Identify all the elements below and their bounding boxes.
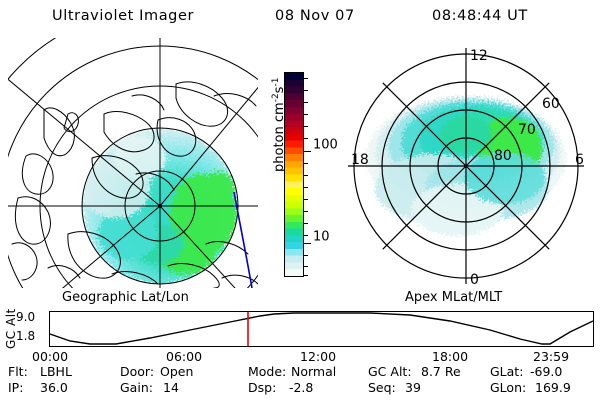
colorbar-minor-tick-14 [304,266,308,267]
colorbar-minor-tick-12 [304,235,308,236]
uvi-screenshot: Ultraviolet Imager 08 Nov 07 08:48:44 UT [0,0,600,400]
mlat-label-70: 70 [518,122,536,138]
observation-date: 08 Nov 07 [275,8,355,24]
right-panel-caption: Apex MLat/MLT [405,290,502,305]
colorbar-major-tick-1 [304,243,311,244]
mlat-label-80: 80 [494,148,512,164]
colorbar-minor-tick-3 [304,114,308,115]
mlt-label-6: 6 [575,152,584,168]
status-glat-value: -69.0 [530,364,562,379]
dial-center [464,164,468,168]
status-dsp-label: Dsp: [248,380,276,395]
colorbar-minor-tick-15 [304,275,308,276]
status-flt-value: LBHL [40,364,72,379]
orbit-xtick-4: 23:59 [533,349,569,364]
geographic-plot-svg [8,38,258,288]
orbit-plot-area [49,311,594,347]
colorbar-minor-tick-4 [304,126,308,127]
header-bar: Ultraviolet Imager 08 Nov 07 08:48:44 UT [0,6,600,30]
orbit-xtick-2: 12:00 [300,349,336,364]
status-ip-value: 36.0 [40,380,68,395]
status-gcalt-value: 8.7 Re [421,364,461,379]
orbit-xtick-0: 00:00 [32,349,68,364]
colorbar-minor-tick-10 [304,211,308,212]
left-panel-caption: Geographic Lat/Lon [62,290,189,305]
pole-marker [158,204,162,208]
status-gcalt-label: GC Alt: [368,364,412,379]
orbit-altitude-strip: GC Alt 9.0 1.8 00:00 06:00 12:00 18:00 2… [0,305,600,357]
geographic-polar-plot [8,38,258,288]
colorbar-minor-tick-0 [304,78,308,79]
colorbar-gradient [285,73,303,276]
mlt-polar-plot: 12 6 0 18 60 70 80 [337,38,595,290]
orbit-x-axis: 00:00 06:00 12:00 18:00 23:59 [0,349,600,365]
colorbar-minor-tick-5 [304,138,308,139]
colorbar-minor-tick-7 [304,175,308,176]
status-gain-value: 14 [163,380,179,395]
colorbar-major-tick-0 [304,151,311,152]
colorbar-title-exp1: -2 [271,93,281,102]
status-glon-label: GLon: [490,380,526,395]
status-dsp-value: -2.8 [281,380,313,395]
mlat-label-60: 60 [542,96,560,112]
instrument-title: Ultraviolet Imager [52,8,194,24]
status-flt-label: Flt: [8,364,28,379]
orbit-trace-svg [50,312,593,346]
colorbar-minor-tick-2 [304,102,308,103]
colorbar-ticks [304,72,312,277]
status-door-label: Door: [120,364,154,379]
colorbar-minor-tick-8 [304,187,308,188]
status-seq-value: 39 [405,380,421,395]
colorbar-minor-tick-9 [304,199,308,200]
colorbar-minor-tick-6 [304,163,308,164]
status-gain-label: Gain: [120,380,153,395]
mlt-label-0: 0 [470,272,479,288]
status-row-1: Flt: LBHL Door: Open Mode: Normal GC Alt… [0,364,600,380]
colorbar-minor-tick-11 [304,223,308,224]
colorbar-minor-tick-13 [304,255,308,256]
status-seq-label: Seq: [368,380,396,395]
status-ip-label: IP: [8,380,23,395]
mlt-plot-svg: 12 6 0 18 60 70 80 [337,38,595,290]
colorbar-scale [284,72,304,277]
colorbar-minor-tick-1 [304,90,308,91]
status-glon-value: 169.9 [535,380,571,395]
observation-time: 08:48:44 UT [432,8,528,24]
colorbar-tick-label-10: 10 [313,231,330,244]
colorbar-tick-label-100: 100 [313,139,338,152]
orbit-xtick-1: 06:00 [166,349,202,364]
status-mode-value: Normal [291,364,336,379]
mlt-label-12: 12 [470,48,488,64]
mlt-label-18: 18 [351,152,369,168]
orbit-xtick-3: 18:00 [432,349,468,364]
status-footer: Flt: LBHL Door: Open Mode: Normal GC Alt… [0,364,600,398]
status-mode-label: Mode: [248,364,286,379]
orbit-ytick-low: 1.8 [16,329,35,343]
status-door-value: Open [160,364,193,379]
orbit-ytick-high: 9.0 [16,310,35,324]
colorbar-title-exp2: -1 [271,78,281,87]
status-glat-label: GLat: [490,364,523,379]
status-row-2: IP: 36.0 Gain: 14 Dsp: -2.8 Seq: 39 GLon… [0,380,600,396]
orbit-altitude-curve [50,313,593,344]
